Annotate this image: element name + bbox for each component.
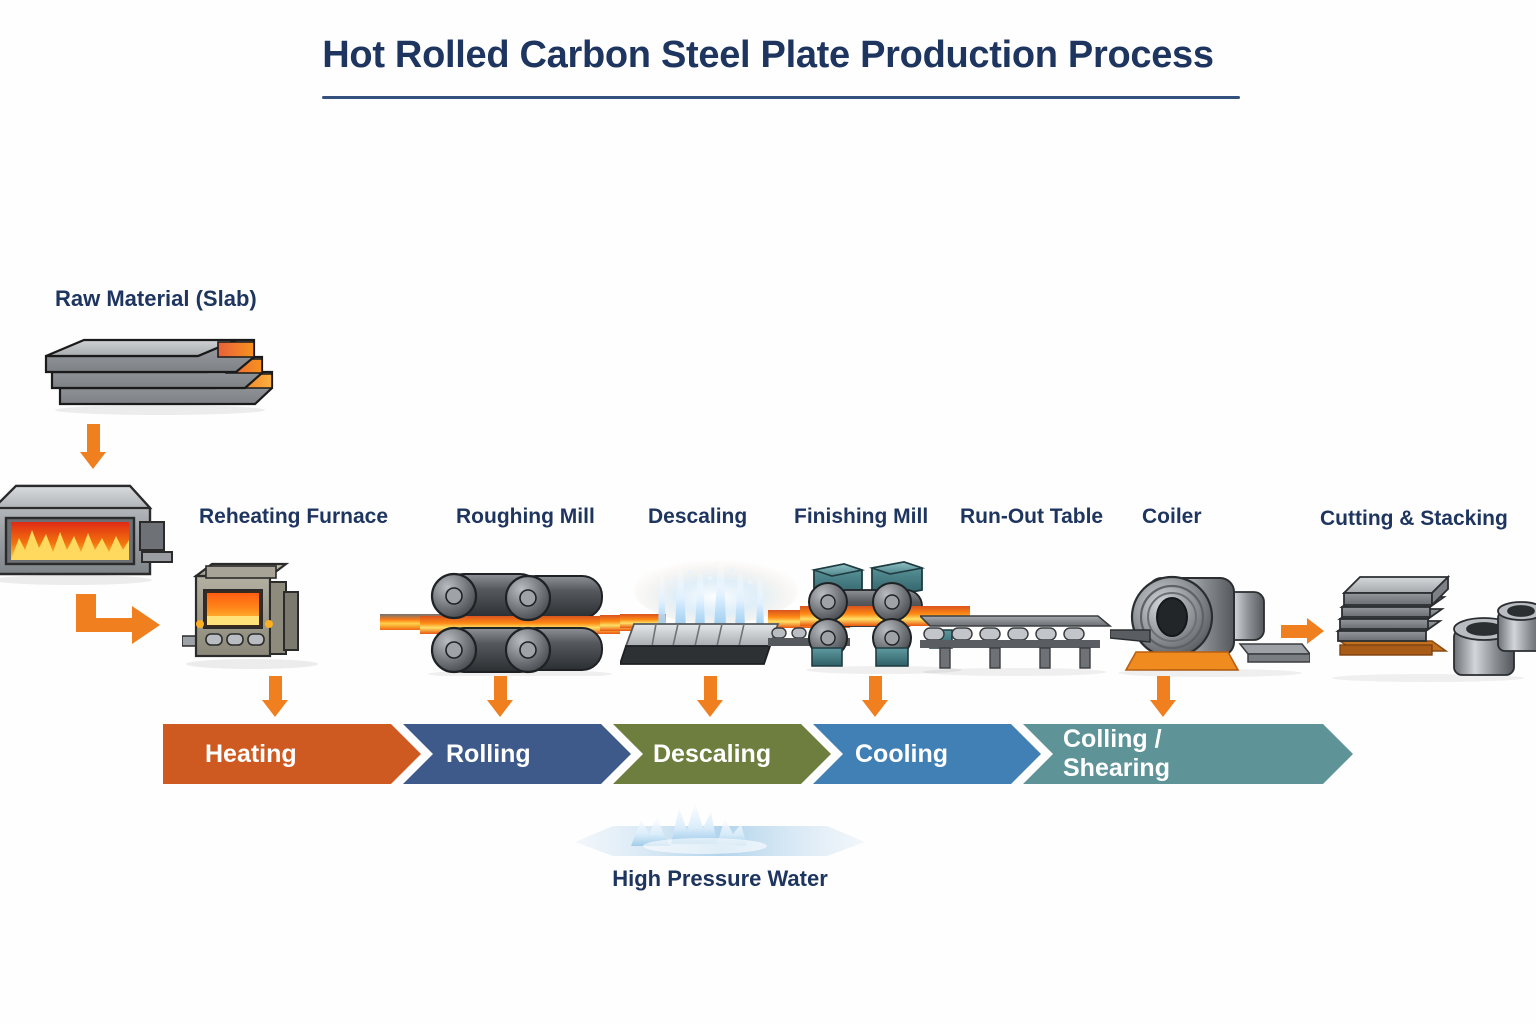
title-underline bbox=[322, 96, 1240, 99]
stage-arrow-descaling bbox=[697, 676, 723, 717]
diagram-canvas: Hot Rolled Carbon Steel Plate Production… bbox=[0, 0, 1536, 1024]
steel-slab-stack-icon bbox=[40, 330, 310, 415]
label-coiler: Coiler bbox=[1142, 505, 1202, 529]
stage-arrow-rolling bbox=[487, 676, 513, 717]
industrial-furnace-icon bbox=[0, 470, 175, 595]
stage-arrow-cooling bbox=[862, 676, 888, 717]
flow-arrow-down-to-furnace bbox=[80, 424, 106, 469]
label-cutting-stacking: Cutting & Stacking bbox=[1320, 507, 1508, 531]
stage-chevron-cooling bbox=[813, 724, 1041, 784]
page-title: Hot Rolled Carbon Steel Plate Production… bbox=[0, 34, 1536, 77]
stage-chevron-heating bbox=[163, 724, 421, 784]
stage-chevron-descaling bbox=[613, 724, 831, 784]
stage-arrow-coiling bbox=[1150, 676, 1176, 717]
label-roughing-mill: Roughing Mill bbox=[456, 505, 595, 529]
label-descaling: Descaling bbox=[648, 505, 747, 529]
stage-arrow-heating bbox=[262, 676, 288, 717]
label-reheating-furnace: Reheating Furnace bbox=[199, 505, 388, 529]
water-spray-icon bbox=[575, 800, 865, 862]
label-raw-material: Raw Material (Slab) bbox=[55, 286, 257, 312]
process-stage-banner[interactable] bbox=[163, 722, 1355, 786]
flow-arrow-elbow-to-line bbox=[70, 594, 165, 656]
label-run-out-table: Run-Out Table bbox=[960, 505, 1103, 529]
reheating-furnace-unit-icon bbox=[182, 556, 392, 676]
label-finishing-mill: Finishing Mill bbox=[794, 505, 928, 529]
stage-chevron-coiling bbox=[1023, 724, 1353, 784]
steel-coil-icon bbox=[1110, 558, 1310, 678]
high-pressure-water-note: High Pressure Water bbox=[575, 866, 865, 892]
flow-arrow-right-to-stacking bbox=[1281, 618, 1324, 644]
plate-stack-icon bbox=[1328, 565, 1536, 683]
rolling-mill-rolls-icon bbox=[420, 558, 620, 676]
stage-chevron-rolling bbox=[403, 724, 631, 784]
